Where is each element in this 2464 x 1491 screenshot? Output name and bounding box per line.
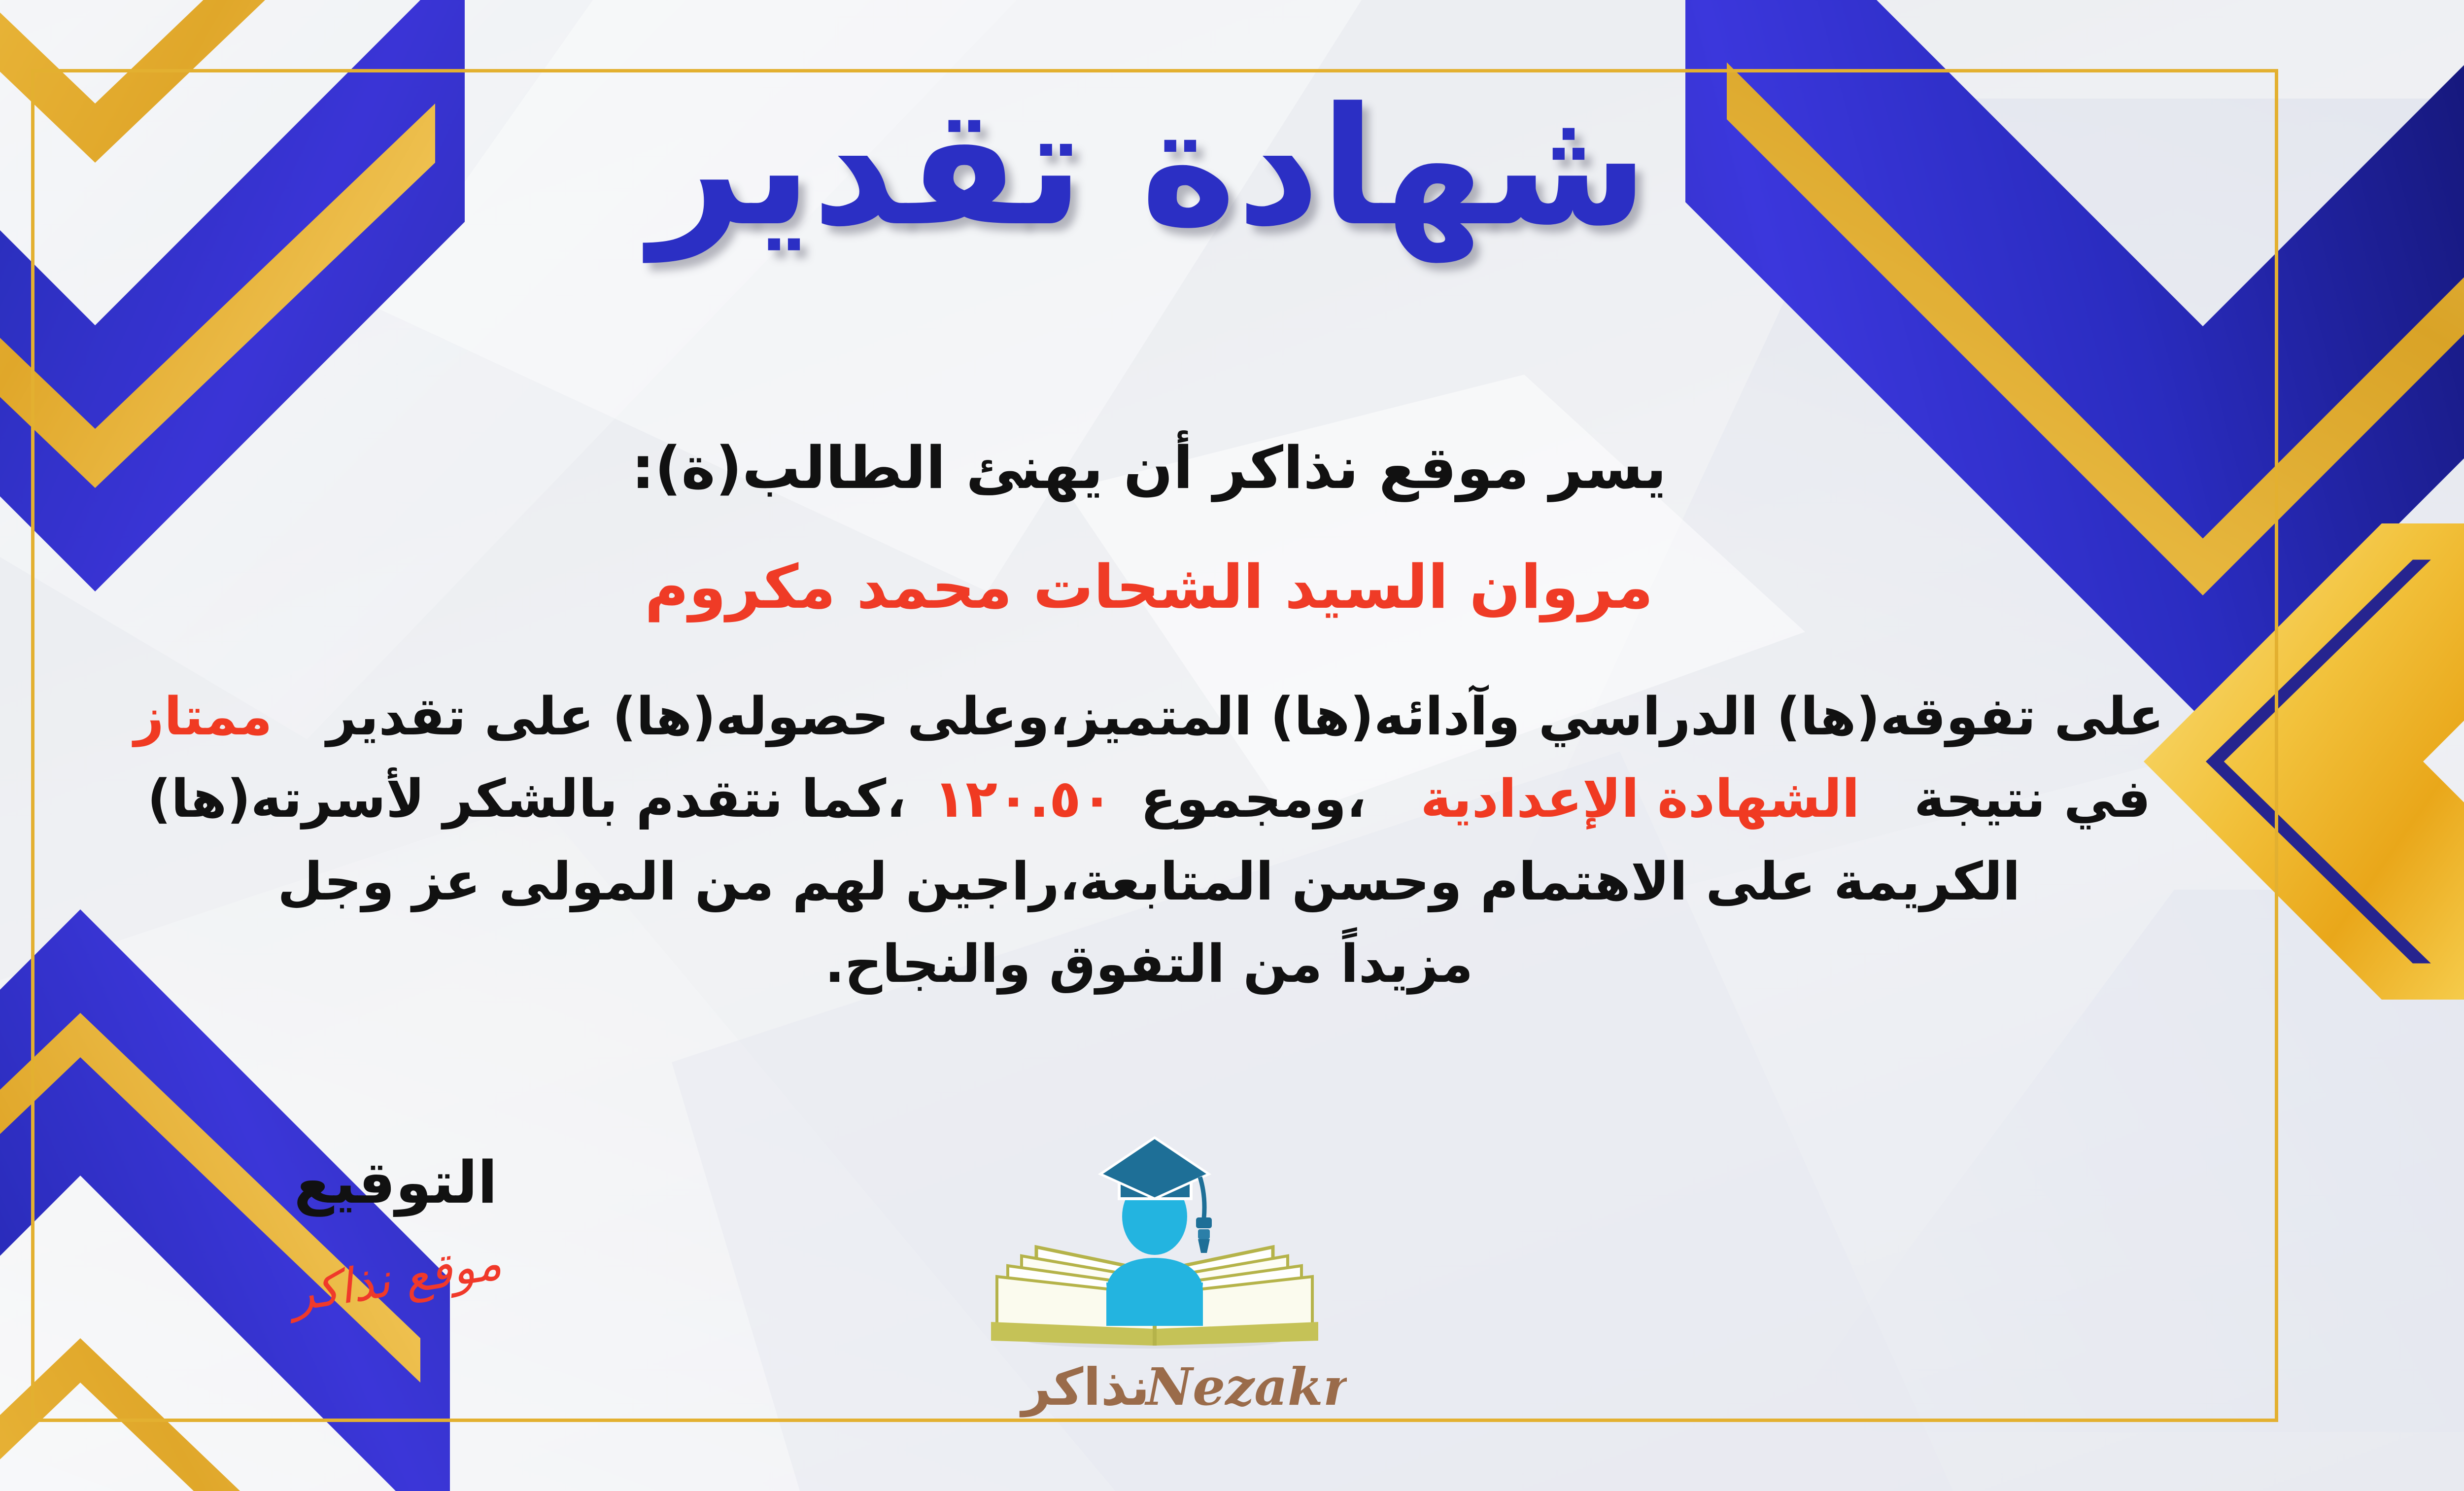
body-line1-text: على تفوقه(ها) الدراسي وآدائه(ها) المتميز… (327, 686, 2164, 747)
greeting-line: يسر موقع نذاكر أن يهنئ الطالب(ة): (0, 434, 2464, 502)
body-line3: الكريمة على الاهتمام وحسن المتابعة،راجين… (277, 851, 2020, 912)
signature-mark: موقع نذاكر (286, 1235, 505, 1322)
nezakr-logo: Nezakr نذاكر (962, 1129, 1347, 1424)
grade-value: ممتاز (134, 686, 273, 747)
body-line2-suffix: ،كما نتقدم بالشكر لأسرته(ها) (147, 768, 906, 829)
certificate-title: شهادة تقدير (0, 74, 2464, 261)
body-line4: مزيداً من التفوق والنجاح. (825, 934, 1473, 994)
signature-block: التوقيع موقع نذاكر (208, 1148, 583, 1306)
certificate-content: شهادة تقدير يسر موقع نذاكر أن يهنئ الطال… (0, 0, 2464, 1491)
certificate-canvas: شهادة تقدير يسر موقع نذاكر أن يهنئ الطال… (0, 0, 2464, 1491)
signature-label: التوقيع (208, 1148, 583, 1216)
exam-name: الشهادة الإعدادية (1420, 768, 1859, 829)
body-line2-prefix: في نتيجة (1914, 768, 2151, 829)
student-name: مروان السيد الشحات محمد مكروم (0, 552, 2464, 622)
body-total-label: ،ومجموع (1140, 768, 1366, 829)
logo-brand-latin: Nezakr (1144, 1356, 1347, 1417)
tassel-cord (1200, 1177, 1204, 1218)
logo-brand-arabic: نذاكر (1019, 1357, 1150, 1417)
total-score-value: ١٢٠.٥٠ (934, 768, 1113, 829)
certificate-body: على تفوقه(ها) الدراسي وآدائه(ها) المتميز… (41, 675, 2257, 1006)
tassel-fringe (1198, 1239, 1210, 1253)
